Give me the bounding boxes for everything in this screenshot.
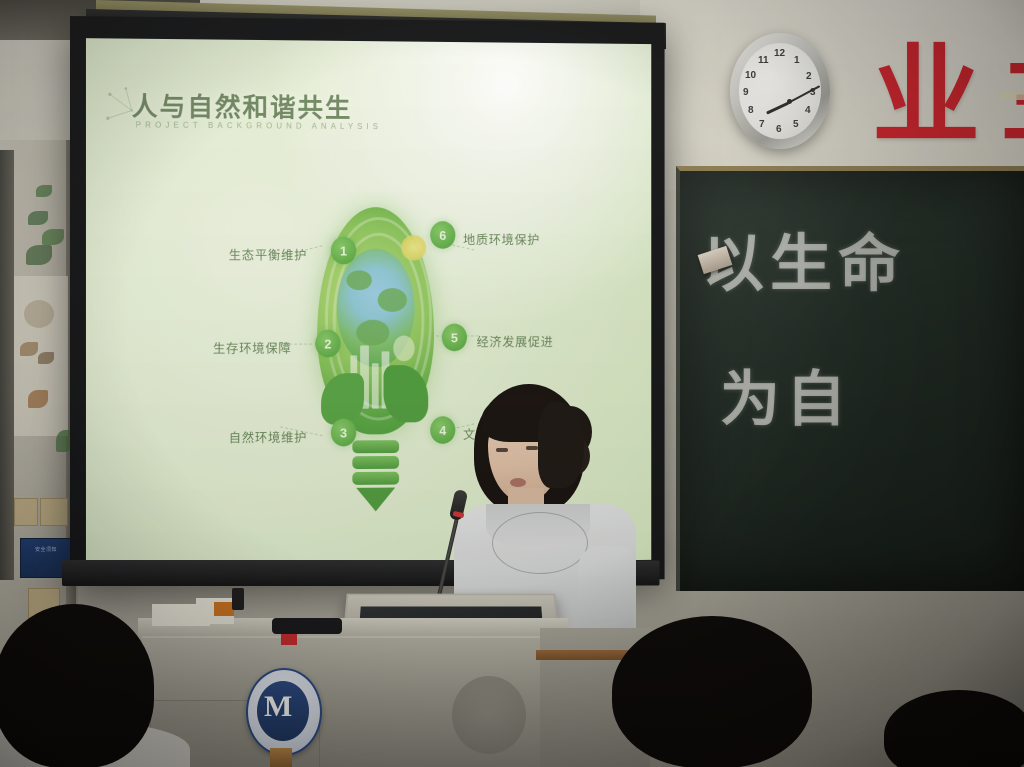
bulb-tree xyxy=(393,336,414,362)
bulb-base-band-2 xyxy=(352,456,399,469)
clock-numeral-9: 9 xyxy=(743,87,749,98)
wall-clock: 12 1 2 3 4 5 6 7 8 9 10 11 xyxy=(730,33,830,149)
blackboard-line-2: 为自 xyxy=(720,351,852,438)
clock-numeral-12: 12 xyxy=(774,48,785,59)
slide-title: 人与自然和谐共生 xyxy=(132,87,353,125)
pillar-shadow xyxy=(0,150,14,580)
slide-node-5: 5 xyxy=(442,324,467,352)
presenter-eye-right xyxy=(526,446,538,450)
desk-black-bag[interactable] xyxy=(272,618,342,634)
botanical-poster-top xyxy=(22,185,68,275)
slide-node-5-label: 经济发展促进 xyxy=(477,331,554,350)
clock-numeral-5: 5 xyxy=(793,119,799,130)
slide-subtitle: PROJECT BACKGROUND ANALYSIS xyxy=(136,120,382,131)
clock-numeral-1: 1 xyxy=(794,55,800,66)
stamp-card-a xyxy=(14,498,38,526)
clock-hour-hand xyxy=(766,102,789,115)
desk-black-marker[interactable] xyxy=(232,588,244,610)
clock-face: 12 1 2 3 4 5 6 7 8 9 10 11 xyxy=(739,43,821,139)
globe-land-a xyxy=(346,270,371,290)
slide-node-6: 6 xyxy=(430,221,455,249)
blackboard: 以生命 为自 xyxy=(676,166,1024,591)
bulb-base-band-1 xyxy=(352,440,399,453)
clock-numeral-10: 10 xyxy=(745,70,756,81)
slide-node-6-label: 地质环境保护 xyxy=(463,229,540,248)
clock-numeral-8: 8 xyxy=(748,105,754,116)
podium-red-sticker xyxy=(281,634,297,645)
bulb-base-tip xyxy=(356,488,395,512)
audience-head-center xyxy=(612,616,812,767)
podium-emblem: M xyxy=(246,668,322,756)
slide-node-1-label: 生态平衡维护 xyxy=(229,244,307,263)
slide-node-2-label: 生存环境保障 xyxy=(213,338,292,357)
lightbulb-graphic xyxy=(307,207,443,524)
clock-center-pin xyxy=(787,99,792,104)
bulb-sun-icon xyxy=(401,235,426,261)
podium-emblem-letter: M xyxy=(264,690,302,730)
clock-numeral-6: 6 xyxy=(776,124,782,135)
banner-tape xyxy=(1000,92,1024,100)
slide-node-1: 1 xyxy=(331,237,356,265)
presenter-hood-seam xyxy=(492,512,588,574)
clock-numeral-7: 7 xyxy=(759,119,765,130)
desk-orange-object[interactable] xyxy=(214,602,234,616)
podium-emblem-stand xyxy=(270,748,292,767)
banner-character-1: 业 xyxy=(872,44,980,152)
clock-numeral-4: 4 xyxy=(805,105,811,116)
presenter-mouth xyxy=(510,478,526,487)
audience-head-left xyxy=(0,604,154,767)
podium-speaker-grille xyxy=(452,676,526,754)
banner-character-2: 三 xyxy=(1000,56,1024,152)
blackboard-line-1: 以生命 xyxy=(702,213,906,303)
sketch-poster-art xyxy=(18,286,64,426)
clock-numeral-2: 2 xyxy=(806,71,812,82)
slide-node-2: 2 xyxy=(315,330,340,358)
globe-land-c xyxy=(356,320,389,346)
presenter-eye-left xyxy=(496,448,508,452)
bulb-base xyxy=(352,440,399,511)
classroom-photo: 安全须知 人与自然和谐共生 PROJECT BACKGROUND ANALYSI… xyxy=(0,0,1024,767)
globe-land-b xyxy=(378,288,407,312)
stamp-card-b xyxy=(40,498,68,526)
city-building-3 xyxy=(372,363,379,408)
wall-plaque-text: 安全须知 xyxy=(21,539,71,554)
bulb-base-band-3 xyxy=(352,472,399,485)
slide-node-3: 3 xyxy=(331,419,356,447)
clock-numeral-11: 11 xyxy=(758,55,769,66)
slide-node-3-label: 自然环境维护 xyxy=(229,427,307,446)
